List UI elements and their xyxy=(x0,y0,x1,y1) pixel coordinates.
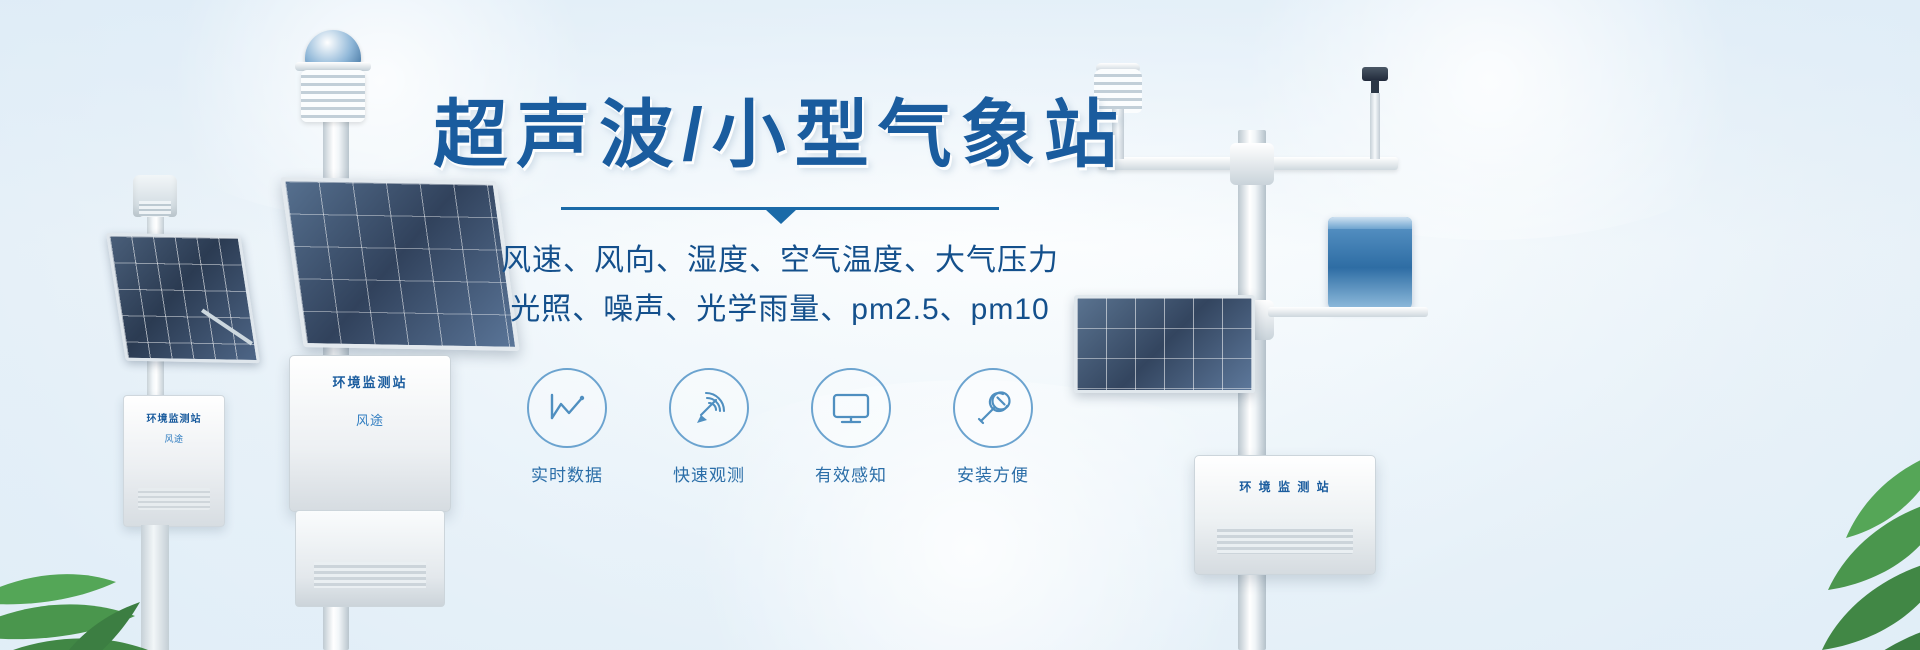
feature-item-easy-install[interactable]: 安装方便 xyxy=(949,368,1037,486)
wind-vane-stem xyxy=(1370,93,1380,159)
feature-item-realtime-data[interactable]: 实时数据 xyxy=(523,368,611,486)
feature-label: 实时数据 xyxy=(523,461,611,486)
title-divider xyxy=(561,201,999,215)
radar-signal-icon xyxy=(669,368,749,448)
control-enclosure: 环 境 监 测 站 xyxy=(1194,455,1376,575)
leaf-decoration-right xyxy=(1690,430,1920,650)
wrench-icon xyxy=(953,368,1033,448)
control-enclosure: 环境监测站 风途 xyxy=(289,355,451,512)
equipment-shelf xyxy=(1268,307,1428,317)
control-enclosure: 环境监测站 风途 xyxy=(123,395,225,527)
down-triangle-icon xyxy=(765,209,797,224)
enclosure-label: 环境监测站 xyxy=(290,372,450,391)
rain-gauge-dome xyxy=(305,30,361,66)
enclosure-vent xyxy=(1217,526,1353,554)
feature-label: 快速观测 xyxy=(665,461,753,486)
lower-enclosure xyxy=(295,510,445,607)
enclosure-vent xyxy=(138,488,210,510)
radiation-shield-sensor xyxy=(301,70,365,122)
line-chart-icon xyxy=(527,368,607,448)
station-base xyxy=(141,525,169,650)
feature-item-fast-observation[interactable]: 快速观测 xyxy=(665,368,753,486)
product-banner: 环境监测站 风途 环境监测站 风途 xyxy=(0,0,1920,650)
feature-label: 安装方便 xyxy=(949,461,1037,486)
mast-clamp-upper xyxy=(1230,143,1274,185)
enclosure-brand: 风途 xyxy=(124,432,224,445)
monitor-icon xyxy=(811,368,891,448)
rain-gauge-bucket xyxy=(1328,217,1412,309)
enclosure-vent xyxy=(314,562,426,588)
solar-panel xyxy=(106,233,260,363)
wind-vane-body xyxy=(1362,67,1388,81)
subtitle-line-1: 风速、风向、湿度、空气温度、大气压力 xyxy=(430,237,1130,286)
subtitle-line-2: 光照、噪声、光学雨量、pm2.5、pm10 xyxy=(430,286,1130,335)
enclosure-label: 环境监测站 xyxy=(124,410,224,425)
enclosure-brand: 风途 xyxy=(290,410,450,429)
banner-subtitle: 风速、风向、湿度、空气温度、大气压力 光照、噪声、光学雨量、pm2.5、pm10 xyxy=(430,237,1130,334)
banner-title: 超声波/小型气象站 xyxy=(430,95,1130,175)
feature-list: 实时数据 快速观测 xyxy=(430,368,1130,486)
banner-content: 超声波/小型气象站 风速、风向、湿度、空气温度、大气压力 光照、噪声、光学雨量、… xyxy=(430,95,1130,486)
feature-item-effective-sensing[interactable]: 有效感知 xyxy=(807,368,895,486)
enclosure-label: 环 境 监 测 站 xyxy=(1195,478,1375,495)
feature-label: 有效感知 xyxy=(807,461,895,486)
radiation-shield-sensor xyxy=(133,175,177,217)
